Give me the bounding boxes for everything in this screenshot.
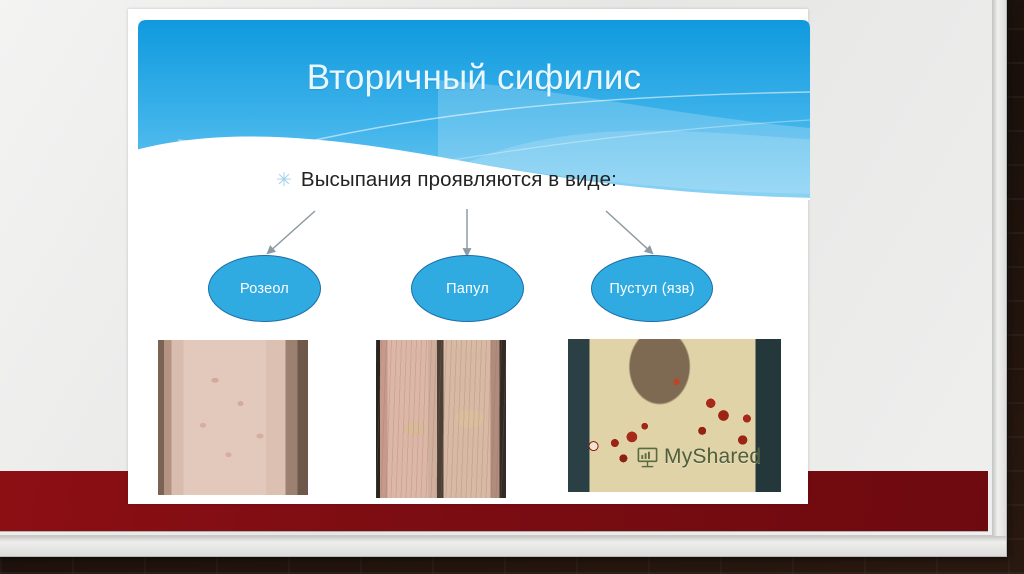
myshared-watermark-text: MyShared xyxy=(664,445,761,469)
node-papul-label: Папул xyxy=(446,281,489,297)
photo-roseola-torso-image xyxy=(158,340,308,495)
bullet-text: Высыпания проявляются в виде: xyxy=(301,168,617,192)
node-rozeol-label: Розеол xyxy=(240,281,289,297)
node-pustul-label: Пустул (язв) xyxy=(609,281,694,297)
bullet-line: ✳ Высыпания проявляются в виде: xyxy=(276,168,617,192)
frame-bottom-rail xyxy=(0,536,1006,556)
presentation-frame-inner: Вторичный сифилис ✳ Высыпания проявляютс… xyxy=(0,0,993,536)
frame-right-rail xyxy=(993,0,1006,556)
presentation-frame-panel: Вторичный сифилис ✳ Высыпания проявляютс… xyxy=(0,0,1007,557)
photo-roseola-torso xyxy=(158,340,308,495)
arrow-to-pustul xyxy=(606,211,652,253)
node-pustul[interactable]: Пустул (язв) xyxy=(591,255,713,322)
arrow-to-rozeol xyxy=(268,211,315,253)
photo-pustules-chest-image xyxy=(568,339,781,492)
photo-papules-soles xyxy=(376,340,506,498)
presentation-screen-icon xyxy=(636,446,659,469)
slide-title: Вторичный сифилис xyxy=(138,58,810,98)
photo-pustules-chest xyxy=(568,339,781,492)
myshared-watermark: MyShared xyxy=(636,445,761,469)
node-papul[interactable]: Папул xyxy=(411,255,524,322)
asterisk-bullet-icon: ✳ xyxy=(276,171,292,190)
node-rozeol[interactable]: Розеол xyxy=(208,255,321,322)
slide-card: Вторичный сифилис ✳ Высыпания проявляютс… xyxy=(128,9,808,504)
desktop-background: Вторичный сифилис ✳ Высыпания проявляютс… xyxy=(0,0,1024,574)
photo-papules-soles-image xyxy=(376,340,506,498)
